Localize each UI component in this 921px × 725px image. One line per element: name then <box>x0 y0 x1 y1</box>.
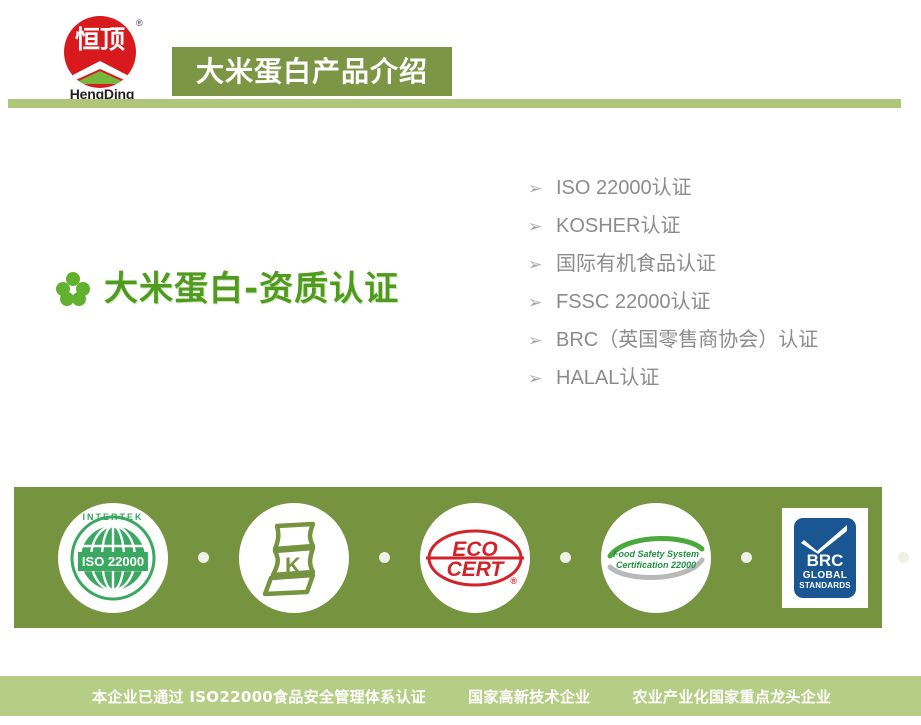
page-header: 恒顶 ® HengDing 大米蛋白产品介绍 <box>0 0 921 110</box>
bullet-arrow-icon: ➢ <box>528 295 556 312</box>
badge-kosher: K <box>239 503 349 613</box>
list-item: ➢ ISO 22000认证 <box>528 176 888 203</box>
brc-global-standards-icon: BRC GLOBAL STANDARDS <box>782 508 868 608</box>
list-item: ➢ HALAL认证 <box>528 366 888 393</box>
footer-segment-3: 农业产业化国家重点龙头企业 <box>632 686 831 707</box>
list-item-label: BRC（英国零售商协会）认证 <box>556 328 818 352</box>
dot-separator-icon <box>898 552 909 563</box>
footer-segment-2: 国家高新技术企业 <box>468 686 590 707</box>
bullet-arrow-icon: ➢ <box>528 181 556 198</box>
badge-brc: BRC GLOBAL STANDARDS <box>782 508 868 608</box>
page-title-band: 大米蛋白产品介绍 <box>172 47 452 96</box>
badge-ecocert: ECO CERT ® <box>420 503 530 613</box>
dot-separator-icon <box>560 552 571 563</box>
kosher-scroll-icon: K <box>255 518 333 598</box>
bullet-arrow-icon: ➢ <box>528 333 556 350</box>
fssc-line1: Food Safety System <box>604 549 708 560</box>
header-divider <box>8 99 901 108</box>
ecocert-icon: ECO CERT ® <box>420 503 530 613</box>
ecocert-registered-icon: ® <box>510 576 517 586</box>
bullet-arrow-icon: ➢ <box>528 257 556 274</box>
logo-roof-icon <box>68 60 132 84</box>
badge-fssc-22000: Food Safety System Certification 22000 <box>601 503 711 613</box>
bullet-arrow-icon: ➢ <box>528 371 556 388</box>
brc-line1: BRC <box>794 551 856 571</box>
badge-iso-22000: INTERTEK ISO 22000 <box>58 503 168 613</box>
brc-line3: STANDARDS <box>794 581 856 590</box>
page-footer: 本企业已通过 ISO22000食品安全管理体系认证 国家高新技术企业 农业产业化… <box>0 676 921 716</box>
list-item: ➢ FSSC 22000认证 <box>528 290 888 317</box>
section-heading-row: 大米蛋白-资质认证 <box>56 272 399 306</box>
dot-separator-icon <box>379 552 390 563</box>
list-item: ➢ 国际有机食品认证 <box>528 252 888 279</box>
kosher-k-icon: K <box>239 503 349 613</box>
list-item-label: FSSC 22000认证 <box>556 290 711 314</box>
company-logo: 恒顶 ® HengDing <box>52 16 152 96</box>
footer-segment-1: 本企业已通过 ISO22000食品安全管理体系认证 <box>92 686 426 707</box>
list-item-label: ISO 22000认证 <box>556 176 692 200</box>
logo-mark-text: 恒顶 <box>64 27 136 52</box>
bullet-arrow-icon: ➢ <box>528 219 556 236</box>
list-item: ➢ KOSHER认证 <box>528 214 888 241</box>
logo-registered-icon: ® <box>136 18 143 28</box>
intertek-label: INTERTEK <box>58 512 168 522</box>
iso-22000-intertek-icon: INTERTEK ISO 22000 <box>58 503 168 613</box>
list-item: ➢ BRC（英国零售商协会）认证 <box>528 328 888 355</box>
dot-separator-icon <box>741 552 752 563</box>
dot-separator-icon <box>198 552 209 563</box>
list-item-label: HALAL认证 <box>556 366 659 390</box>
list-item-label: KOSHER认证 <box>556 214 680 238</box>
certification-badge-strip: INTERTEK ISO 22000 K <box>14 487 882 628</box>
iso-22000-label: ISO 22000 <box>78 552 148 571</box>
page-title: 大米蛋白产品介绍 <box>196 58 428 86</box>
checkmark-icon <box>800 524 850 554</box>
fssc-line2: Certification 22000 <box>604 560 708 571</box>
section-heading: 大米蛋白-资质认证 <box>104 272 399 306</box>
logo-circle-icon: 恒顶 <box>64 16 136 88</box>
certification-bullet-list: ➢ ISO 22000认证 ➢ KOSHER认证 ➢ 国际有机食品认证 ➢ FS… <box>528 176 888 404</box>
flower-icon <box>56 272 90 306</box>
list-item-label: 国际有机食品认证 <box>556 252 716 276</box>
fssc-22000-icon: Food Safety System Certification 22000 <box>601 503 711 613</box>
brc-line2: GLOBAL <box>794 570 856 581</box>
kosher-letter: K <box>285 553 301 578</box>
